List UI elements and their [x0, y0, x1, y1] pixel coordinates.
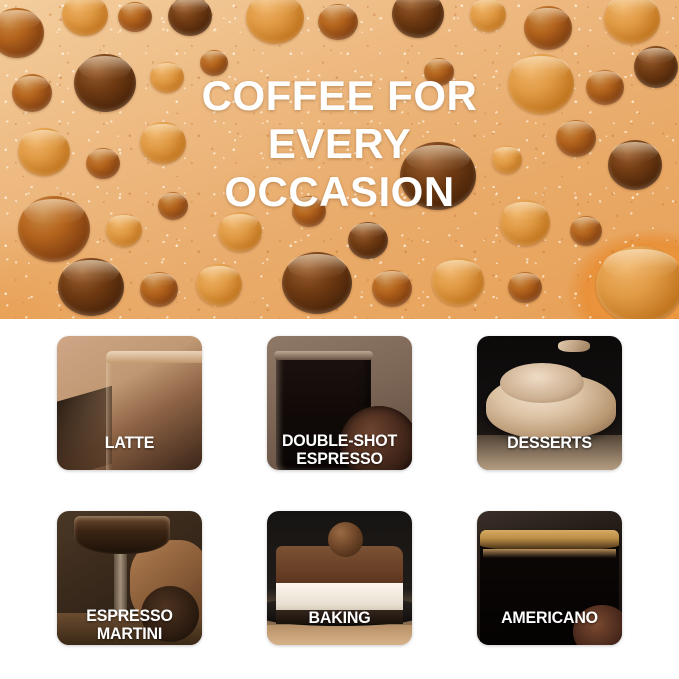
category-row-1: LATTE DOUBLE-SHOT ESPRESSO DESSERTS	[0, 336, 679, 470]
chocolate-ball-icon	[328, 522, 363, 557]
crema-bubble-icon	[118, 2, 152, 32]
category-label-desserts: DESSERTS	[468, 434, 631, 452]
garnish-crumb	[558, 340, 590, 352]
table-surface	[267, 625, 412, 645]
whipped-cream-top	[500, 363, 584, 403]
crema-bubble-icon	[318, 4, 358, 40]
crema-bubble-icon	[432, 258, 484, 306]
hero-title: COFFEE FOR EVERY OCCASION	[0, 72, 679, 216]
crema-bubble-icon	[570, 216, 602, 246]
crema-bubble-icon	[282, 252, 352, 314]
wall-shadow	[57, 386, 112, 470]
coupe-glass-icon	[74, 516, 170, 554]
category-grid: LATTE DOUBLE-SHOT ESPRESSO DESSERTS	[0, 319, 679, 679]
category-card-espresso-martini[interactable]: ESPRESSO MARTINI	[57, 511, 202, 645]
category-label-americano: AMERICANO	[468, 609, 631, 627]
crema-bubble-icon	[218, 212, 262, 252]
crema-bubble-icon	[140, 272, 178, 307]
category-label-espresso-martini: ESPRESSO MARTINI	[48, 607, 211, 643]
category-label-baking: BAKING	[258, 609, 421, 627]
category-label-latte: LATTE	[48, 434, 211, 452]
crema-bubble-icon	[596, 246, 679, 319]
hero-banner: COFFEE FOR EVERY OCCASION	[0, 0, 679, 319]
coffee-foam	[483, 549, 616, 558]
glass-rim	[274, 351, 373, 360]
category-label-double-shot-espresso: DOUBLE-SHOT ESPRESSO	[258, 432, 421, 468]
glass-rim	[106, 351, 202, 363]
category-card-desserts[interactable]: DESSERTS	[477, 336, 622, 470]
category-card-double-shot-espresso[interactable]: DOUBLE-SHOT ESPRESSO	[267, 336, 412, 470]
crema-bubble-icon	[348, 222, 388, 259]
category-row-2: ESPRESSO MARTINI BAKING	[0, 511, 679, 645]
crema-bubble-icon	[196, 264, 242, 306]
latte-glass-icon	[106, 352, 202, 470]
crema-bubble-icon	[508, 272, 542, 303]
crema-bubble-icon	[106, 214, 142, 247]
crema-bubble-icon	[58, 258, 124, 316]
crema-bubble-icon	[524, 6, 572, 50]
coffee-promo-page: COFFEE FOR EVERY OCCASION LATTE DOUBLE	[0, 0, 679, 679]
crema-bubble-icon	[372, 270, 412, 307]
category-card-baking[interactable]: BAKING	[267, 511, 412, 645]
category-card-americano[interactable]: AMERICANO	[477, 511, 622, 645]
category-card-latte[interactable]: LATTE	[57, 336, 202, 470]
